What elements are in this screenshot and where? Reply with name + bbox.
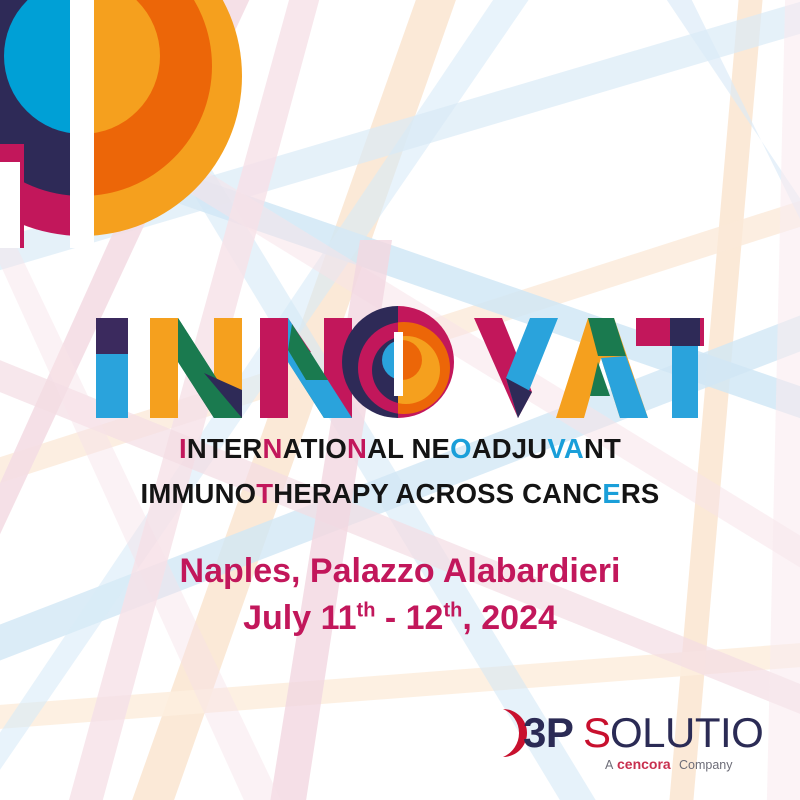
letter-A: [556, 318, 648, 418]
subtitle-2-seg-1: T: [256, 478, 273, 509]
event-date-ordinal-1: th: [357, 600, 376, 622]
letter-V: [474, 318, 558, 418]
subtitle-1-seg-9: NT: [584, 433, 621, 464]
event-date-separator: - 12: [375, 599, 443, 637]
subtitle-1-seg-3: ATIO: [283, 433, 347, 464]
sponsor-name-olution: OLUTION: [610, 709, 765, 756]
subtitle-1-seg-6: O: [450, 433, 472, 464]
event-date: July 11th - 12th, 2024: [0, 599, 800, 638]
letter-T: [636, 318, 704, 418]
sponsor-tagline-prefix: A: [605, 758, 614, 772]
sponsor-tagline-brand: cencora: [617, 756, 671, 772]
sponsor-tagline-suffix: Company: [679, 758, 733, 772]
subtitle-2-seg-3: E: [602, 478, 621, 509]
subtitle-1-seg-8: VA: [547, 433, 584, 464]
event-date-suffix: , 2024: [462, 599, 557, 637]
event-date-prefix: July 11: [243, 599, 356, 637]
subtitle-2-seg-4: RS: [621, 478, 660, 509]
subtitle-1-seg-2: N: [263, 433, 283, 464]
poster-canvas: INTERNATIONAL NEOADJUVANT IMMUNOTHERAPY …: [0, 0, 800, 800]
subtitle-2-seg-0: IMMUNO: [141, 478, 257, 509]
sponsor-logo-3p-solution[interactable]: 3P S OLUTION A cencora Company: [497, 703, 765, 775]
subtitle-1-seg-4: N: [347, 433, 367, 464]
letter-I: [96, 318, 128, 418]
event-date-ordinal-2: th: [443, 600, 462, 622]
sponsor-name-3p: 3P: [523, 709, 573, 756]
subtitle-1-seg-5: AL NE: [367, 433, 450, 464]
letter-N-1: [150, 318, 242, 418]
sponsor-name-s: S: [583, 709, 611, 756]
letter-O: [342, 306, 454, 418]
subtitle-2-seg-2: HERAPY ACROSS CANC: [273, 478, 602, 509]
letter-N-2: [260, 318, 352, 418]
subtitle-line-1: INTERNATIONAL NEOADJUVANT: [0, 433, 800, 465]
event-venue: Naples, Palazzo Alabardieri: [0, 552, 800, 591]
innovate-wordmark: [96, 300, 704, 418]
innovate-circle-mark-icon: [0, 0, 244, 248]
subtitle-1-seg-0: I: [179, 433, 187, 464]
subtitle-1-seg-1: NTER: [187, 433, 263, 464]
sponsor-tagline: A cencora Company: [605, 756, 733, 772]
subtitle-1-seg-7: ADJU: [472, 433, 548, 464]
subtitle-line-2: IMMUNOTHERAPY ACROSS CANCERS: [0, 478, 800, 510]
